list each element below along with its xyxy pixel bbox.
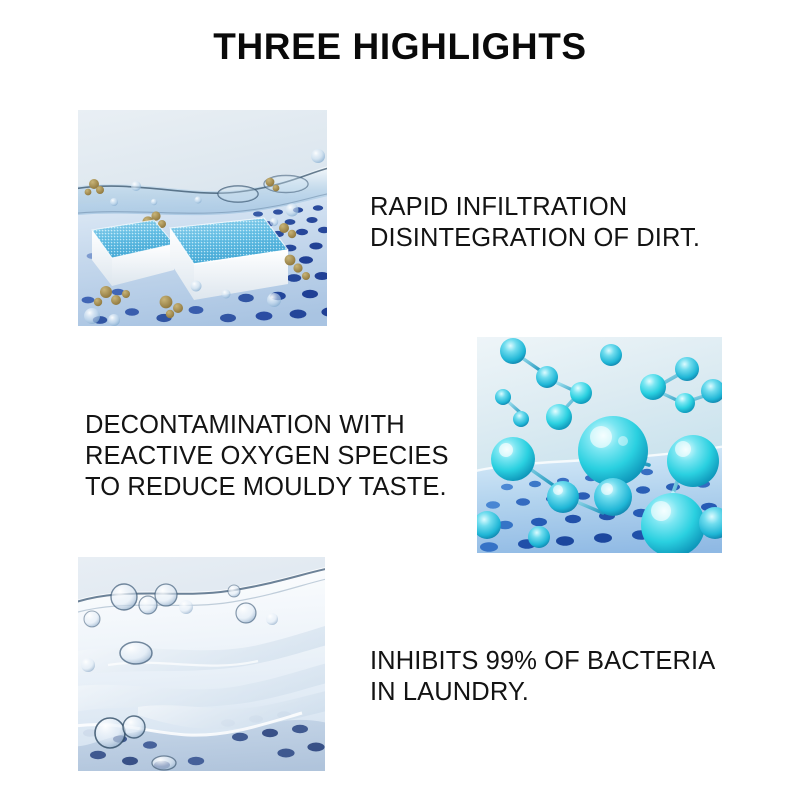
page-title: THREE HIGHLIGHTS: [0, 26, 800, 68]
highlight-text-decontamination: DECONTAMINATION WITH REACTIVE OXYGEN SPE…: [85, 410, 449, 503]
highlight-image-oxygen-molecule-bubbles: [477, 337, 722, 553]
highlight-text-inhibits-bacteria: INHIBITS 99% OF BACTERIA IN LAUNDRY.: [370, 646, 715, 708]
highlight-image-effervescent-tablets-on-washer-drum: [78, 110, 327, 326]
highlight-text-rapid-infiltration: RAPID INFILTRATION DISINTEGRATION OF DIR…: [370, 192, 700, 254]
highlight-image-flowing-water-bubbles: [78, 557, 325, 771]
